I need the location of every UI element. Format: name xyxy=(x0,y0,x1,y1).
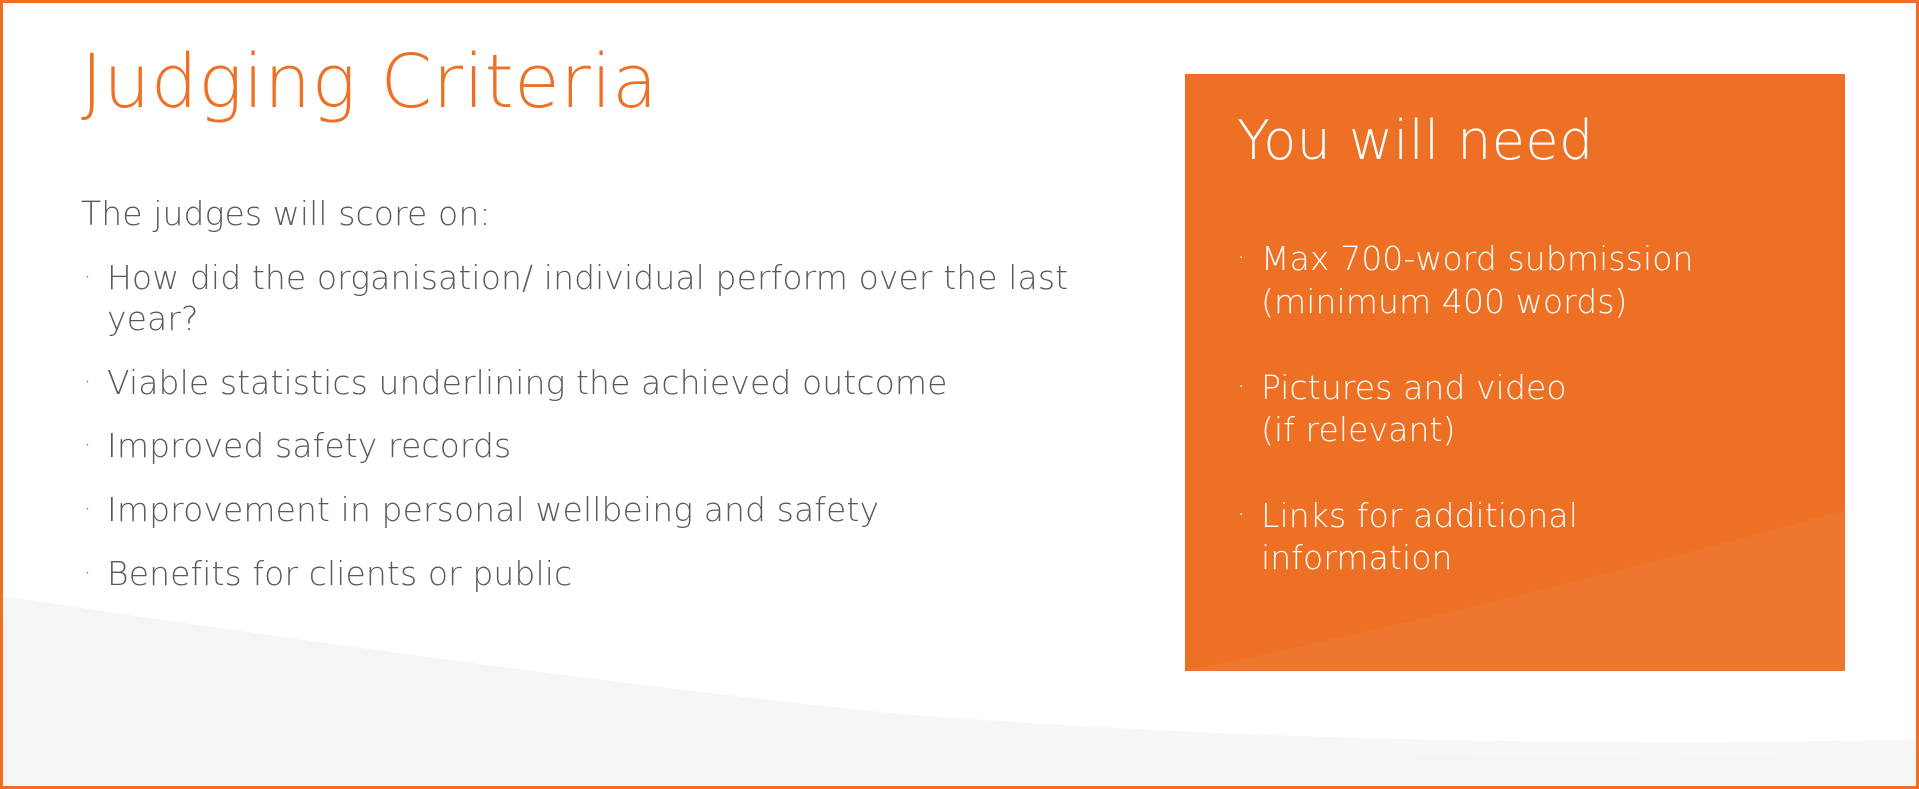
panel-title: You will need xyxy=(1237,112,1815,170)
list-item: · Links for additional information xyxy=(1237,495,1815,579)
list-item-line1: Improvement in personal wellbeing and sa… xyxy=(107,490,879,529)
list-item: · Viable statistics underlining the achi… xyxy=(81,362,1141,404)
bullet-icon: · xyxy=(1237,495,1245,535)
bullet-icon: · xyxy=(1237,238,1245,278)
list-item-line1: How did the organisation/ individual per… xyxy=(107,258,933,297)
list-item-line2: (minimum 400 words) xyxy=(1261,281,1815,323)
criteria-block: The judges will score on: · How did the … xyxy=(81,193,1141,594)
requirements-list: · Max 700-word submission (minimum 400 w… xyxy=(1237,238,1815,579)
bullet-icon: · xyxy=(1237,367,1245,407)
list-item: · Pictures and video (if relevant) xyxy=(1237,367,1815,451)
list-item: · Benefits for clients or public xyxy=(81,553,1141,595)
bullet-icon: · xyxy=(83,553,92,593)
criteria-column: Judging Criteria The judges will score o… xyxy=(81,43,1141,594)
list-item: · Improved safety records xyxy=(81,425,1141,467)
bullet-icon: · xyxy=(83,362,92,402)
list-item-line1: Viable statistics underlining the achiev… xyxy=(107,363,948,402)
page-title: Judging Criteria xyxy=(81,43,1141,121)
bullet-icon: · xyxy=(83,489,92,529)
panel-content: You will need · Max 700-word submission … xyxy=(1185,74,1845,580)
list-item-line1: Benefits for clients or public xyxy=(107,554,572,593)
you-will-need-panel: You will need · Max 700-word submission … xyxy=(1185,74,1845,671)
list-item-line2: (if relevant) xyxy=(1261,409,1815,451)
list-item-line1: Max 700-word submission xyxy=(1261,239,1694,278)
criteria-intro-text: The judges will score on: xyxy=(81,193,1141,234)
list-item: · Max 700-word submission (minimum 400 w… xyxy=(1237,238,1815,322)
list-item-line2: information xyxy=(1261,537,1815,579)
list-item-line1: Links for additional xyxy=(1261,496,1578,535)
list-item-line1: Improved safety records xyxy=(107,426,511,465)
criteria-list: · How did the organisation/ individual p… xyxy=(81,257,1141,594)
bullet-icon: · xyxy=(83,425,92,465)
bullet-icon: · xyxy=(83,257,92,297)
list-item-line1: Pictures and video xyxy=(1261,368,1567,407)
list-item: · How did the organisation/ individual p… xyxy=(81,257,1141,340)
slide-canvas: Judging Criteria The judges will score o… xyxy=(0,0,1919,789)
list-item: · Improvement in personal wellbeing and … xyxy=(81,489,1141,531)
